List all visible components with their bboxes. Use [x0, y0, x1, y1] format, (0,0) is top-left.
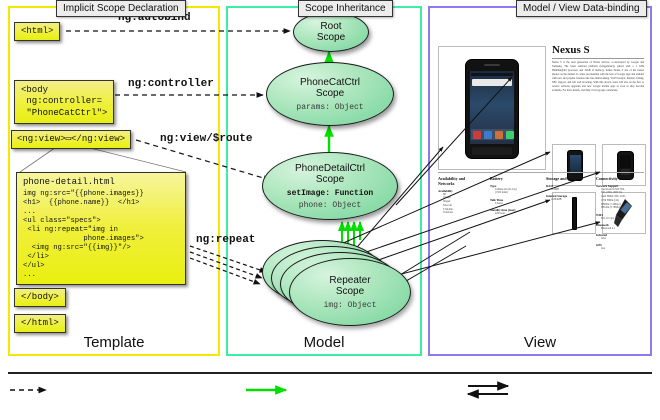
- panel-label-template: Template: [8, 334, 220, 351]
- scope-property: phone: Object: [299, 201, 361, 210]
- legend-label-implicit-scope-declaration: Implicit Scope Declaration: [56, 0, 186, 17]
- template-source: img ng:src="{{phone.images}} <h1> {{phon…: [23, 190, 144, 279]
- code-ng-view: <ng:view>▭</ng:view>: [11, 130, 131, 149]
- code-phone-detail-template: phone-detail.htmlimg ng:src="{{phone.ima…: [16, 172, 186, 285]
- wire-label-controller: ng:controller: [128, 78, 214, 90]
- legend-icon-implicit-scope-declaration: [8, 382, 56, 398]
- wire-repeat: [190, 246, 266, 284]
- wire-label-repeat: ng:repeat: [196, 234, 255, 246]
- scope-title: RootScope: [317, 21, 345, 44]
- scope-property: img: Object: [324, 301, 377, 310]
- template-filename: phone-detail.html: [23, 177, 179, 188]
- wire-databinding-hero: [396, 77, 512, 205]
- scope-property: params: Object: [296, 103, 363, 112]
- scope-property: setImage: Function: [287, 189, 373, 198]
- scope-title: PhoneCatCtrlScope: [300, 77, 360, 100]
- code-html-close: </html>: [14, 314, 66, 333]
- code-body-open: <body ng:controller= "PhoneCatCtrl">: [14, 80, 114, 124]
- scope-phonecatctrl: PhoneCatCtrlScope params: Object: [266, 62, 394, 126]
- panel-label-model: Model: [226, 334, 422, 351]
- legend-label-data-binding: Model / View Data-binding: [516, 0, 647, 17]
- scope-title: RepeaterScope: [329, 275, 370, 298]
- scope-root: RootScope: [293, 12, 369, 52]
- legend-icon-scope-inheritance: [242, 382, 298, 398]
- scope-title: PhoneDetailCtrlScope: [295, 163, 365, 186]
- scope-repeater: RepeaterScope img: Object: [289, 258, 411, 326]
- scope-phonedetailctrl: PhoneDetailCtrlScope setImage: Function …: [262, 152, 398, 220]
- legend-icon-data-binding: [462, 379, 518, 401]
- panel-label-view: View: [428, 334, 652, 351]
- diagram-canvas: Nexus S Nexus S is the next generation o…: [0, 0, 660, 420]
- wire-label-route: ng:view/$route: [160, 133, 252, 145]
- legend-divider: [8, 372, 652, 374]
- legend-label-scope-inheritance: Scope Inheritance: [298, 0, 393, 17]
- code-body-close: </body>: [14, 288, 66, 307]
- code-html-open: <html>: [14, 22, 60, 41]
